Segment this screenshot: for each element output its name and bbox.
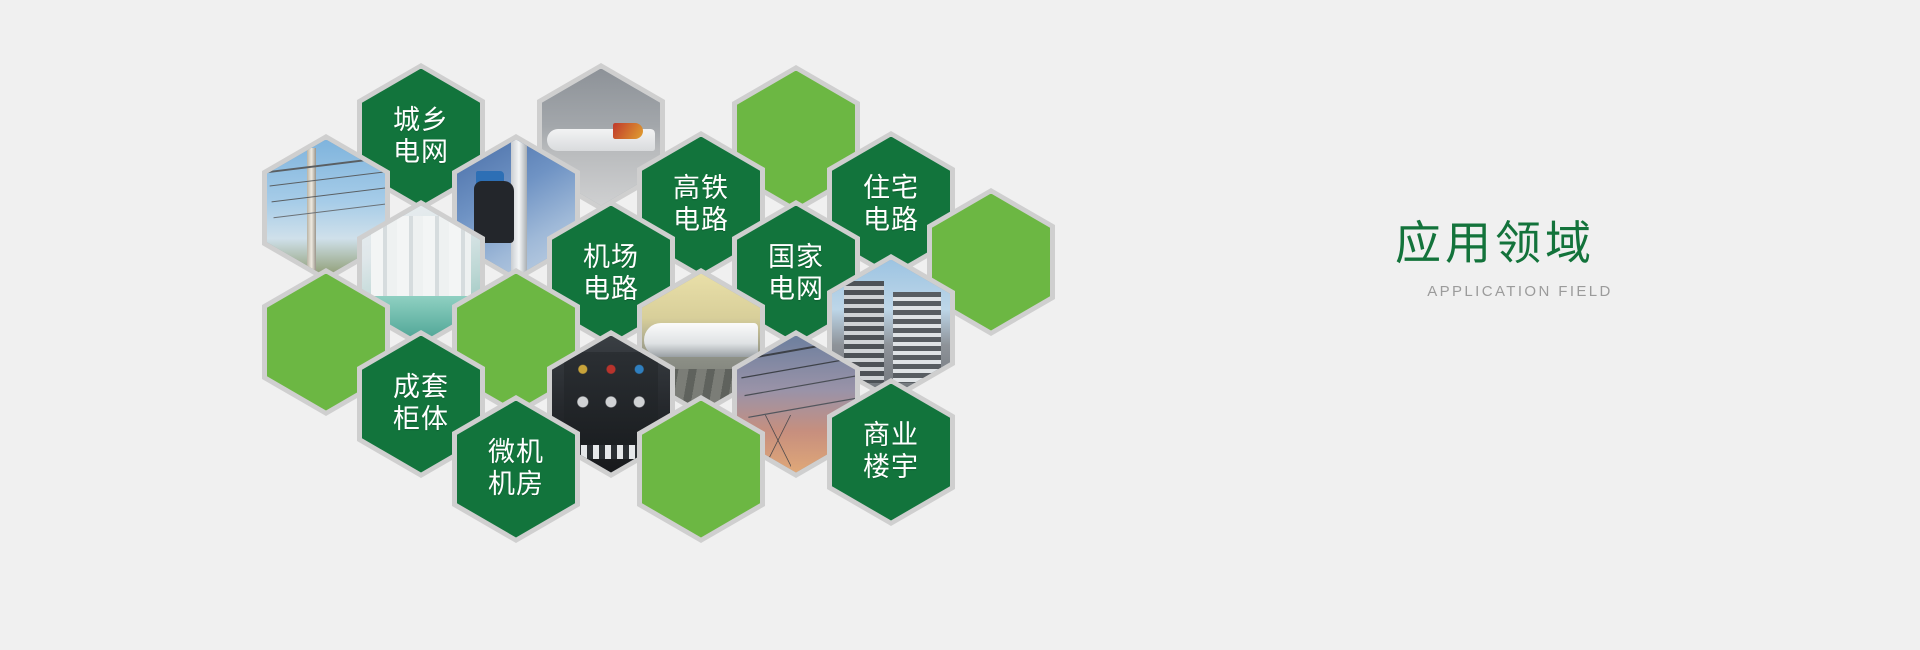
hex-label-computer-room: 微机 机房 [488, 437, 544, 501]
hex-label-urban-rural-grid: 城乡 电网 [393, 105, 449, 169]
hex-inner [642, 401, 760, 538]
hex-label-state-grid: 国家 电网 [768, 242, 824, 306]
page-title: 应用领域 [1395, 218, 1825, 269]
hex-inner: 微机 机房 [457, 401, 575, 538]
hex-label-high-speed-rail: 高铁 电路 [673, 173, 729, 237]
hex-label-airport-wiring: 机场 电路 [583, 242, 639, 306]
page-subtitle: APPLICATION FIELD [1395, 283, 1645, 300]
hex-label-switchgear-cabinet: 成套 柜体 [393, 372, 449, 436]
hex-inner: 商业 楼宇 [832, 384, 950, 521]
hex-label-residential-wiring: 住宅 电路 [863, 173, 919, 237]
hexagon-collage: 城乡 电网高铁 电路住宅 电路机场 电路国家 电网成套 柜体微机 机房商业 楼宇 [0, 0, 1920, 650]
hex-label-commercial-building: 商业 楼宇 [863, 420, 919, 484]
heading-block: 应用领域 APPLICATION FIELD [1395, 218, 1825, 300]
